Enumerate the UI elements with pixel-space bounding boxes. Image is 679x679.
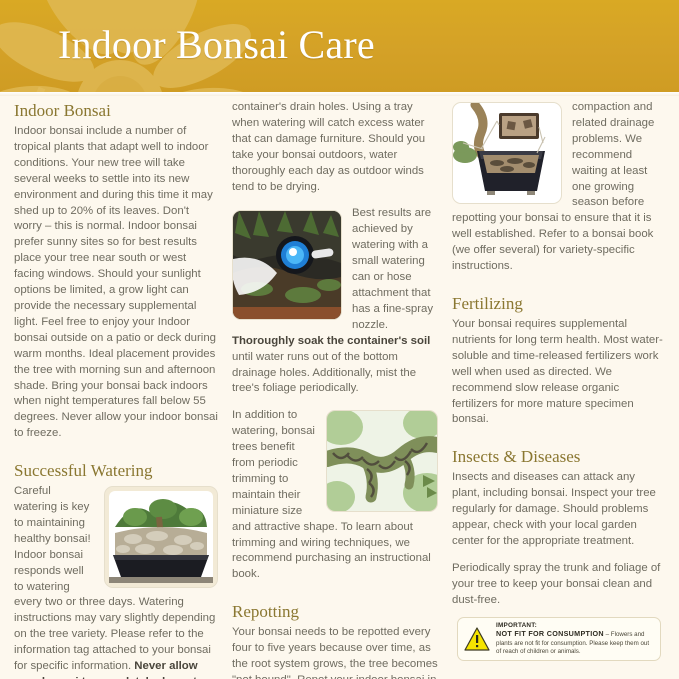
best-results-text-end: until water runs out of the bottom drain…: [232, 351, 416, 395]
header-divider: [0, 92, 679, 96]
wired-bonsai-branch-photo: [326, 410, 438, 512]
page-header: Indoor Bonsai Care: [0, 0, 679, 92]
important-warning-box: IMPORTANT: NOT FIT FOR CONSUMPTION – Flo…: [457, 617, 661, 661]
best-results-text: Best results are achieved by watering wi…: [352, 207, 433, 330]
paragraph-fertilizing: Your bonsai requires supplemental nutrie…: [452, 317, 666, 428]
content-columns: Indoor Bonsai Indoor bonsai include a nu…: [0, 100, 679, 679]
heading-repotting: Repotting: [232, 601, 438, 622]
repotting-container-diagram-photo: [452, 102, 562, 204]
column-three: compaction and related drainage problems…: [452, 100, 666, 620]
watering-nozzle-photo: [232, 210, 342, 320]
paragraph-drain-holes: container's drain holes. Using a tray wh…: [232, 100, 438, 195]
heading-successful-watering: Successful Watering: [14, 460, 218, 481]
bonsai-in-pot-photo: [104, 486, 218, 588]
column-one: Indoor Bonsai Indoor bonsai include a nu…: [14, 100, 218, 679]
heading-insects-diseases: Insects & Diseases: [452, 446, 666, 467]
paragraph-insects-2: Periodically spray the trunk and foliage…: [452, 561, 666, 609]
paragraph-insects-1: Insects and diseases can attack any plan…: [452, 470, 666, 550]
page-title: Indoor Bonsai Care: [58, 16, 375, 74]
heading-indoor-bonsai: Indoor Bonsai: [14, 100, 218, 121]
bonsai-care-document: Indoor Bonsai Care Indoor Bonsai Indoor …: [0, 0, 679, 679]
warning-label-not-fit: NOT FIT FOR CONSUMPTION: [496, 629, 604, 638]
paragraph-indoor-bonsai: Indoor bonsai include a number of tropic…: [14, 124, 218, 442]
paragraph-repotting: Your bonsai needs to be repotted every f…: [232, 625, 438, 679]
soak-soil-bold: Thoroughly soak the container's soil: [232, 335, 430, 347]
warning-triangle-icon: [464, 627, 490, 651]
heading-fertilizing: Fertilizing: [452, 293, 666, 314]
column-two: container's drain holes. Using a tray wh…: [232, 100, 438, 679]
warning-text: IMPORTANT: NOT FIT FOR CONSUMPTION – Flo…: [496, 622, 654, 657]
